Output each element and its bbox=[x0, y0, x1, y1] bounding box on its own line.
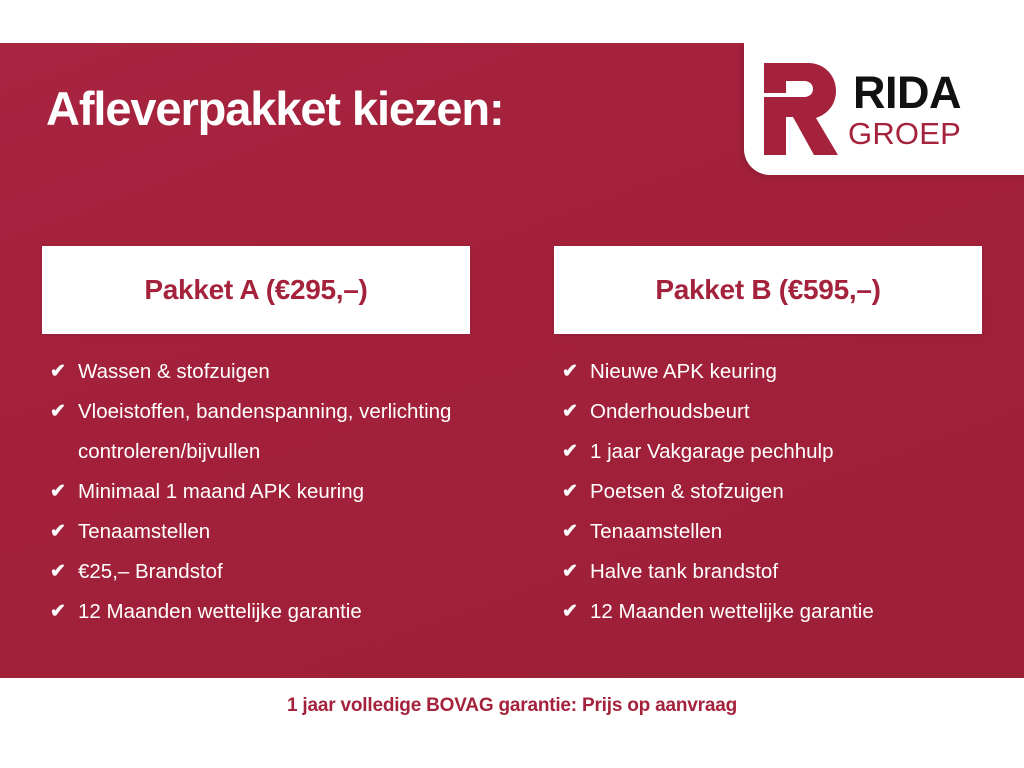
check-icon: ✔ bbox=[50, 592, 78, 632]
list-item: ✔ Tenaamstellen bbox=[50, 512, 470, 552]
check-icon: ✔ bbox=[562, 432, 590, 472]
check-icon: ✔ bbox=[562, 352, 590, 392]
feature-label: Minimaal 1 maand APK keuring bbox=[78, 472, 470, 512]
slide-root: Afleverpakket kiezen: RIDA GROEP Pakket … bbox=[0, 0, 1024, 768]
check-icon: ✔ bbox=[50, 472, 78, 512]
feature-label: Nieuwe APK keuring bbox=[590, 352, 982, 392]
feature-label: Wassen & stofzuigen bbox=[78, 352, 470, 392]
package-a-feature-list: ✔ Wassen & stofzuigen ✔ Vloeistoffen, ba… bbox=[42, 334, 470, 632]
brand-subname: GROEP bbox=[848, 118, 961, 149]
check-icon: ✔ bbox=[50, 552, 78, 592]
list-item: ✔ Onderhoudsbeurt bbox=[562, 392, 982, 432]
footer-note: 1 jaar volledige BOVAG garantie: Prijs o… bbox=[287, 695, 737, 717]
feature-label: 12 Maanden wettelijke garantie bbox=[78, 592, 470, 632]
list-item: ✔ Poetsen & stofzuigen bbox=[562, 472, 982, 512]
footer-bar: 1 jaar volledige BOVAG garantie: Prijs o… bbox=[0, 678, 1024, 768]
red-background-panel: Afleverpakket kiezen: RIDA GROEP Pakket … bbox=[0, 43, 1024, 678]
brand-logo-panel: RIDA GROEP bbox=[744, 43, 1024, 175]
check-icon: ✔ bbox=[50, 352, 78, 392]
list-item: ✔ Tenaamstellen bbox=[562, 512, 982, 552]
check-icon: ✔ bbox=[562, 512, 590, 552]
rida-r-monogram-icon bbox=[758, 59, 840, 159]
feature-label: Tenaamstellen bbox=[590, 512, 982, 552]
feature-label: 12 Maanden wettelijke garantie bbox=[590, 592, 982, 632]
check-icon: ✔ bbox=[50, 512, 78, 552]
package-a-title: Pakket A (€295,–) bbox=[144, 274, 367, 306]
brand-wordmark: RIDA GROEP bbox=[848, 70, 961, 149]
list-item: ✔ 12 Maanden wettelijke garantie bbox=[562, 592, 982, 632]
list-item: ✔ Minimaal 1 maand APK keuring bbox=[50, 472, 470, 512]
list-item: ✔ €25,– Brandstof bbox=[50, 552, 470, 592]
package-b-title: Pakket B (€595,–) bbox=[655, 274, 880, 306]
list-item: ✔ Vloeistoffen, bandenspanning, verlicht… bbox=[50, 392, 470, 472]
check-icon: ✔ bbox=[562, 552, 590, 592]
feature-label: Tenaamstellen bbox=[78, 512, 470, 552]
feature-label: Onderhoudsbeurt bbox=[590, 392, 982, 432]
package-column-a: Pakket A (€295,–) ✔ Wassen & stofzuigen … bbox=[42, 246, 470, 632]
check-icon: ✔ bbox=[562, 592, 590, 632]
page-title: Afleverpakket kiezen: bbox=[46, 81, 504, 136]
list-item: ✔ 12 Maanden wettelijke garantie bbox=[50, 592, 470, 632]
packages-container: Pakket A (€295,–) ✔ Wassen & stofzuigen … bbox=[0, 246, 1024, 632]
brand-name: RIDA bbox=[853, 70, 961, 115]
feature-label: 1 jaar Vakgarage pechhulp bbox=[590, 432, 982, 472]
package-b-feature-list: ✔ Nieuwe APK keuring ✔ Onderhoudsbeurt ✔… bbox=[554, 334, 982, 632]
feature-label: Vloeistoffen, bandenspanning, verlichtin… bbox=[78, 392, 470, 472]
feature-label: €25,– Brandstof bbox=[78, 552, 470, 592]
list-item: ✔ 1 jaar Vakgarage pechhulp bbox=[562, 432, 982, 472]
list-item: ✔ Halve tank brandstof bbox=[562, 552, 982, 592]
package-b-header-card[interactable]: Pakket B (€595,–) bbox=[554, 246, 982, 334]
list-item: ✔ Wassen & stofzuigen bbox=[50, 352, 470, 392]
check-icon: ✔ bbox=[562, 392, 590, 432]
list-item: ✔ Nieuwe APK keuring bbox=[562, 352, 982, 392]
package-column-b: Pakket B (€595,–) ✔ Nieuwe APK keuring ✔… bbox=[554, 246, 982, 632]
feature-label: Halve tank brandstof bbox=[590, 552, 982, 592]
check-icon: ✔ bbox=[562, 472, 590, 512]
feature-label: Poetsen & stofzuigen bbox=[590, 472, 982, 512]
check-icon: ✔ bbox=[50, 392, 78, 432]
package-a-header-card[interactable]: Pakket A (€295,–) bbox=[42, 246, 470, 334]
